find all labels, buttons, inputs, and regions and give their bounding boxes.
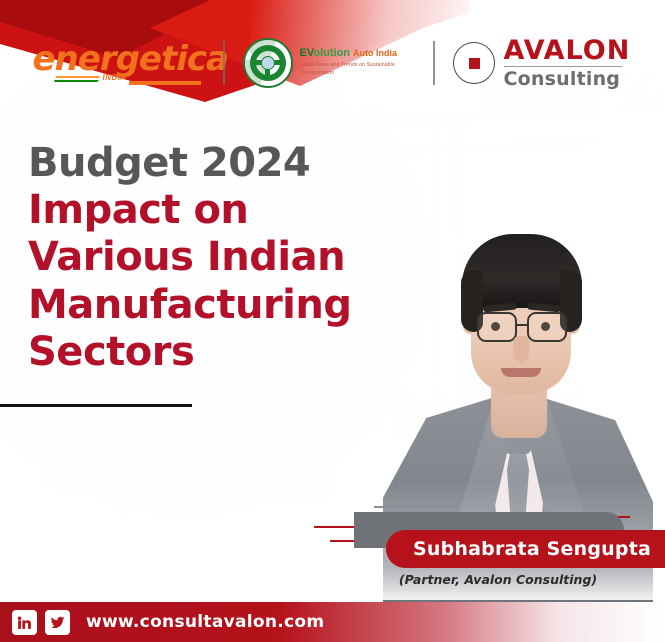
speaker-name-block: Subhabrata Sengupta (Partner, Avalon Con… xyxy=(330,500,665,596)
evolution-auto-india: Auto India xyxy=(353,48,397,58)
logo-divider xyxy=(433,41,435,85)
evolution-title: EVolutionAuto India xyxy=(300,48,415,60)
headline-line-3: Various Indian xyxy=(28,234,398,281)
promo-poster: energetica INDIA EVolutionAuto India xyxy=(0,0,665,642)
logo-energetica[interactable]: energetica INDIA xyxy=(33,37,205,89)
evolution-suffix: olution xyxy=(313,47,350,59)
twitter-icon[interactable] xyxy=(45,610,70,635)
headline-line-1: Budget 2024 xyxy=(28,140,398,187)
accent-line xyxy=(314,526,356,528)
steering-wheel-icon xyxy=(243,38,293,88)
footer-bar: www.consultavalon.com xyxy=(0,602,665,642)
circle-square-mark-icon xyxy=(453,42,495,84)
linkedin-icon[interactable] xyxy=(12,610,37,635)
headline-line-4: Manufacturing xyxy=(28,282,398,329)
logo-divider xyxy=(223,41,225,85)
evolution-prefix: EV xyxy=(300,47,314,59)
avalon-subtitle: Consulting xyxy=(504,70,631,89)
avalon-rule xyxy=(504,66,622,68)
headline-line-2: Impact on xyxy=(28,187,398,234)
accent-line xyxy=(374,506,456,508)
evolution-tagline: Latest News and Trends on Sustainable Tr… xyxy=(300,62,415,78)
logo-evolution-auto-india[interactable]: EVolutionAuto India Latest News and Tren… xyxy=(243,38,415,88)
energetica-wordmark: energetica xyxy=(33,39,229,79)
speaker-role: (Partner, Avalon Consulting) xyxy=(348,572,648,587)
website-url[interactable]: www.consultavalon.com xyxy=(86,612,324,632)
logo-row: energetica INDIA EVolutionAuto India xyxy=(0,34,665,92)
speaker-name: Subhabrata Sengupta xyxy=(386,530,665,568)
tricolor-flag-icon xyxy=(53,76,99,82)
logo-avalon-consulting[interactable]: AVALON Consulting xyxy=(453,37,633,90)
energetica-sub-label: INDIA xyxy=(103,73,127,82)
headline-line-5: Sectors xyxy=(28,329,398,376)
headline-block: Budget 2024 Impact on Various Indian Man… xyxy=(28,140,398,376)
avalon-name: AVALON xyxy=(504,37,631,64)
energetica-underline xyxy=(129,81,201,85)
headline-underline xyxy=(0,404,192,407)
